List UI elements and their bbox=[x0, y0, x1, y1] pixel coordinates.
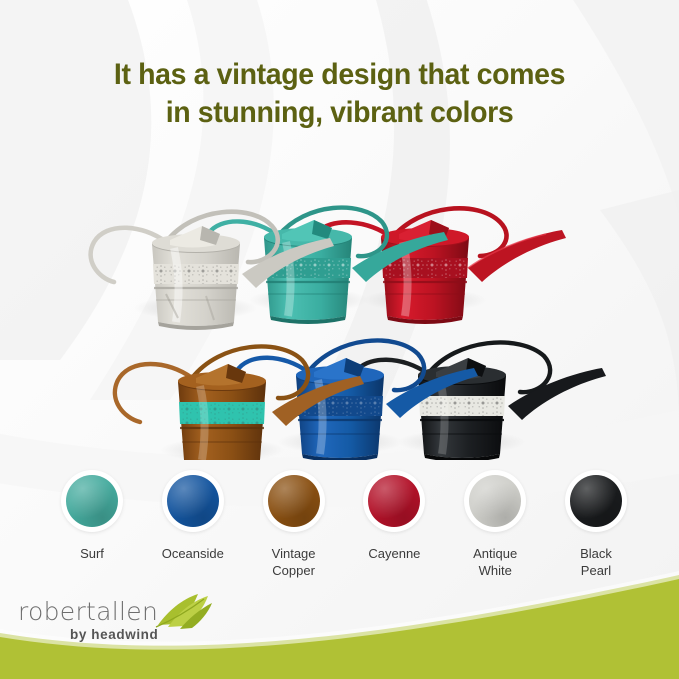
swatch-item-antique-white[interactable]: Antique White bbox=[447, 470, 543, 579]
swatch-color-dot bbox=[368, 475, 420, 527]
swatch-color-dot bbox=[268, 475, 320, 527]
swatch-item-vintage-copper[interactable]: Vintage Copper bbox=[246, 470, 342, 579]
swatch-ring bbox=[363, 470, 425, 532]
swatch-label-line-1: Black bbox=[580, 546, 612, 561]
swatch-color-dot bbox=[469, 475, 521, 527]
swatch-ring bbox=[61, 470, 123, 532]
swatch-item-oceanside[interactable]: Oceanside bbox=[145, 470, 241, 562]
headline: It has a vintage design that comes in st… bbox=[17, 56, 662, 132]
swatch-ring bbox=[464, 470, 526, 532]
swatch-label-line-1: Surf bbox=[80, 546, 104, 561]
swatch-color-dot bbox=[66, 475, 118, 527]
swatch-label-line-1: Oceanside bbox=[162, 546, 224, 561]
headline-line-1: It has a vintage design that comes bbox=[114, 58, 565, 91]
swatch-label-line-1: Vintage bbox=[272, 546, 316, 561]
swatch-label-line-1: Cayenne bbox=[368, 546, 420, 561]
swatch-color-dot bbox=[167, 475, 219, 527]
swatch-ring bbox=[162, 470, 224, 532]
swatch-item-black-pearl[interactable]: Black Pearl bbox=[548, 470, 644, 579]
swatch-item-surf[interactable]: Surf bbox=[44, 470, 140, 562]
headline-line-2: in stunning, vibrant colors bbox=[17, 94, 662, 132]
swatch-label: Surf bbox=[80, 545, 104, 562]
swatch-item-cayenne[interactable]: Cayenne bbox=[346, 470, 442, 562]
swatch-color-dot bbox=[570, 475, 622, 527]
product-photo-watering-cans bbox=[0, 160, 679, 460]
leaf-icon bbox=[154, 591, 216, 631]
swatch-ring bbox=[565, 470, 627, 532]
brand-logo: robertallen by headwind bbox=[18, 599, 228, 651]
swatch-ring bbox=[263, 470, 325, 532]
swatch-label-line-1: Antique bbox=[473, 546, 517, 561]
product-marketing-poster: It has a vintage design that comes in st… bbox=[0, 0, 679, 679]
swatch-label: Oceanside bbox=[162, 545, 224, 562]
swatch-label: Cayenne bbox=[368, 545, 420, 562]
